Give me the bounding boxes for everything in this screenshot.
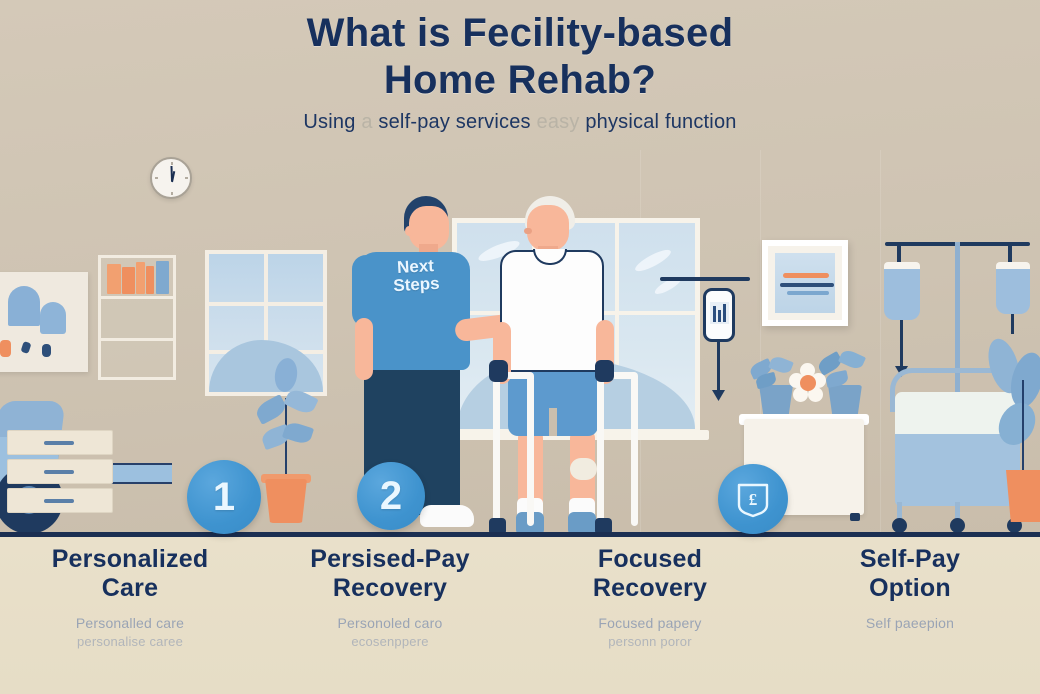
iv-bag-left: [884, 262, 920, 320]
step-3-title-line-1: Focused: [520, 545, 780, 574]
iv-bag-right: [996, 262, 1030, 314]
step-1-sub-1: Personalled care: [0, 615, 260, 631]
step-3-sub-2: personn poror: [520, 634, 780, 649]
page-title-line-2: Home Rehab?: [0, 57, 1040, 104]
step-2-sub-1: Personoled caro: [260, 615, 520, 631]
shirt-branding: Next Steps: [375, 256, 457, 296]
step-1-number: 1: [213, 477, 235, 517]
step-1-title-line-1: Personalized: [0, 545, 260, 574]
headline-block: What is Fecility-based Home Rehab? Using…: [0, 10, 1040, 134]
page-subtitle: Using a self-pay services easy physical …: [0, 111, 1040, 134]
subtitle-part-1: Using: [303, 111, 355, 133]
shield-pound-icon: £: [733, 479, 773, 519]
step-1-sub-2: personalise caree: [0, 634, 260, 649]
step-label-2: Persised-Pay Recovery Personoled caro ec…: [260, 543, 520, 663]
step-2-title-line-2: Recovery: [260, 574, 520, 603]
subtitle-part-2: self-pay services: [378, 111, 530, 133]
framed-picture: [762, 240, 848, 326]
step-label-3: Focused Recovery Focused papery personn …: [520, 543, 780, 663]
step-label-4: Self-Pay Option Self paeepion: [780, 543, 1040, 663]
step-3-sub-1: Focused papery: [520, 615, 780, 631]
orange-flower-icon: [790, 365, 826, 401]
step-2-sub-2: ecosenppere: [260, 634, 520, 649]
abstract-wall-art: [0, 272, 88, 372]
step-2-number: 2: [380, 476, 402, 516]
subtitle-faint-2: easy: [537, 111, 580, 133]
left-window: [205, 250, 327, 396]
bookshelf: [98, 255, 176, 380]
svg-text:£: £: [749, 490, 758, 509]
step-label-1: Personalized Care Personalled care perso…: [0, 543, 260, 663]
step-1-title-line-2: Care: [0, 574, 260, 603]
subtitle-part-3: physical function: [585, 111, 736, 133]
wall-clock-icon: [150, 157, 192, 199]
rehab-infographic-poster: Next Steps: [0, 0, 1040, 694]
subtitle-faint-1: a: [361, 111, 372, 133]
step-marker-4[interactable]: £: [718, 464, 788, 534]
step-2-title-line-1: Persised-Pay: [260, 545, 520, 574]
step-4-title-line-1: Self-Pay: [780, 545, 1040, 574]
step-3-title-line-2: Recovery: [520, 574, 780, 603]
step-labels-row: Personalized Care Personalled care perso…: [0, 543, 1040, 663]
step-marker-2[interactable]: 2: [357, 462, 425, 530]
step-4-sub-1: Self paeepion: [780, 615, 1040, 631]
page-title-line-1: What is Fecility-based: [0, 10, 1040, 57]
step-marker-1[interactable]: 1: [187, 460, 261, 534]
step-4-title-line-2: Option: [780, 574, 1040, 603]
